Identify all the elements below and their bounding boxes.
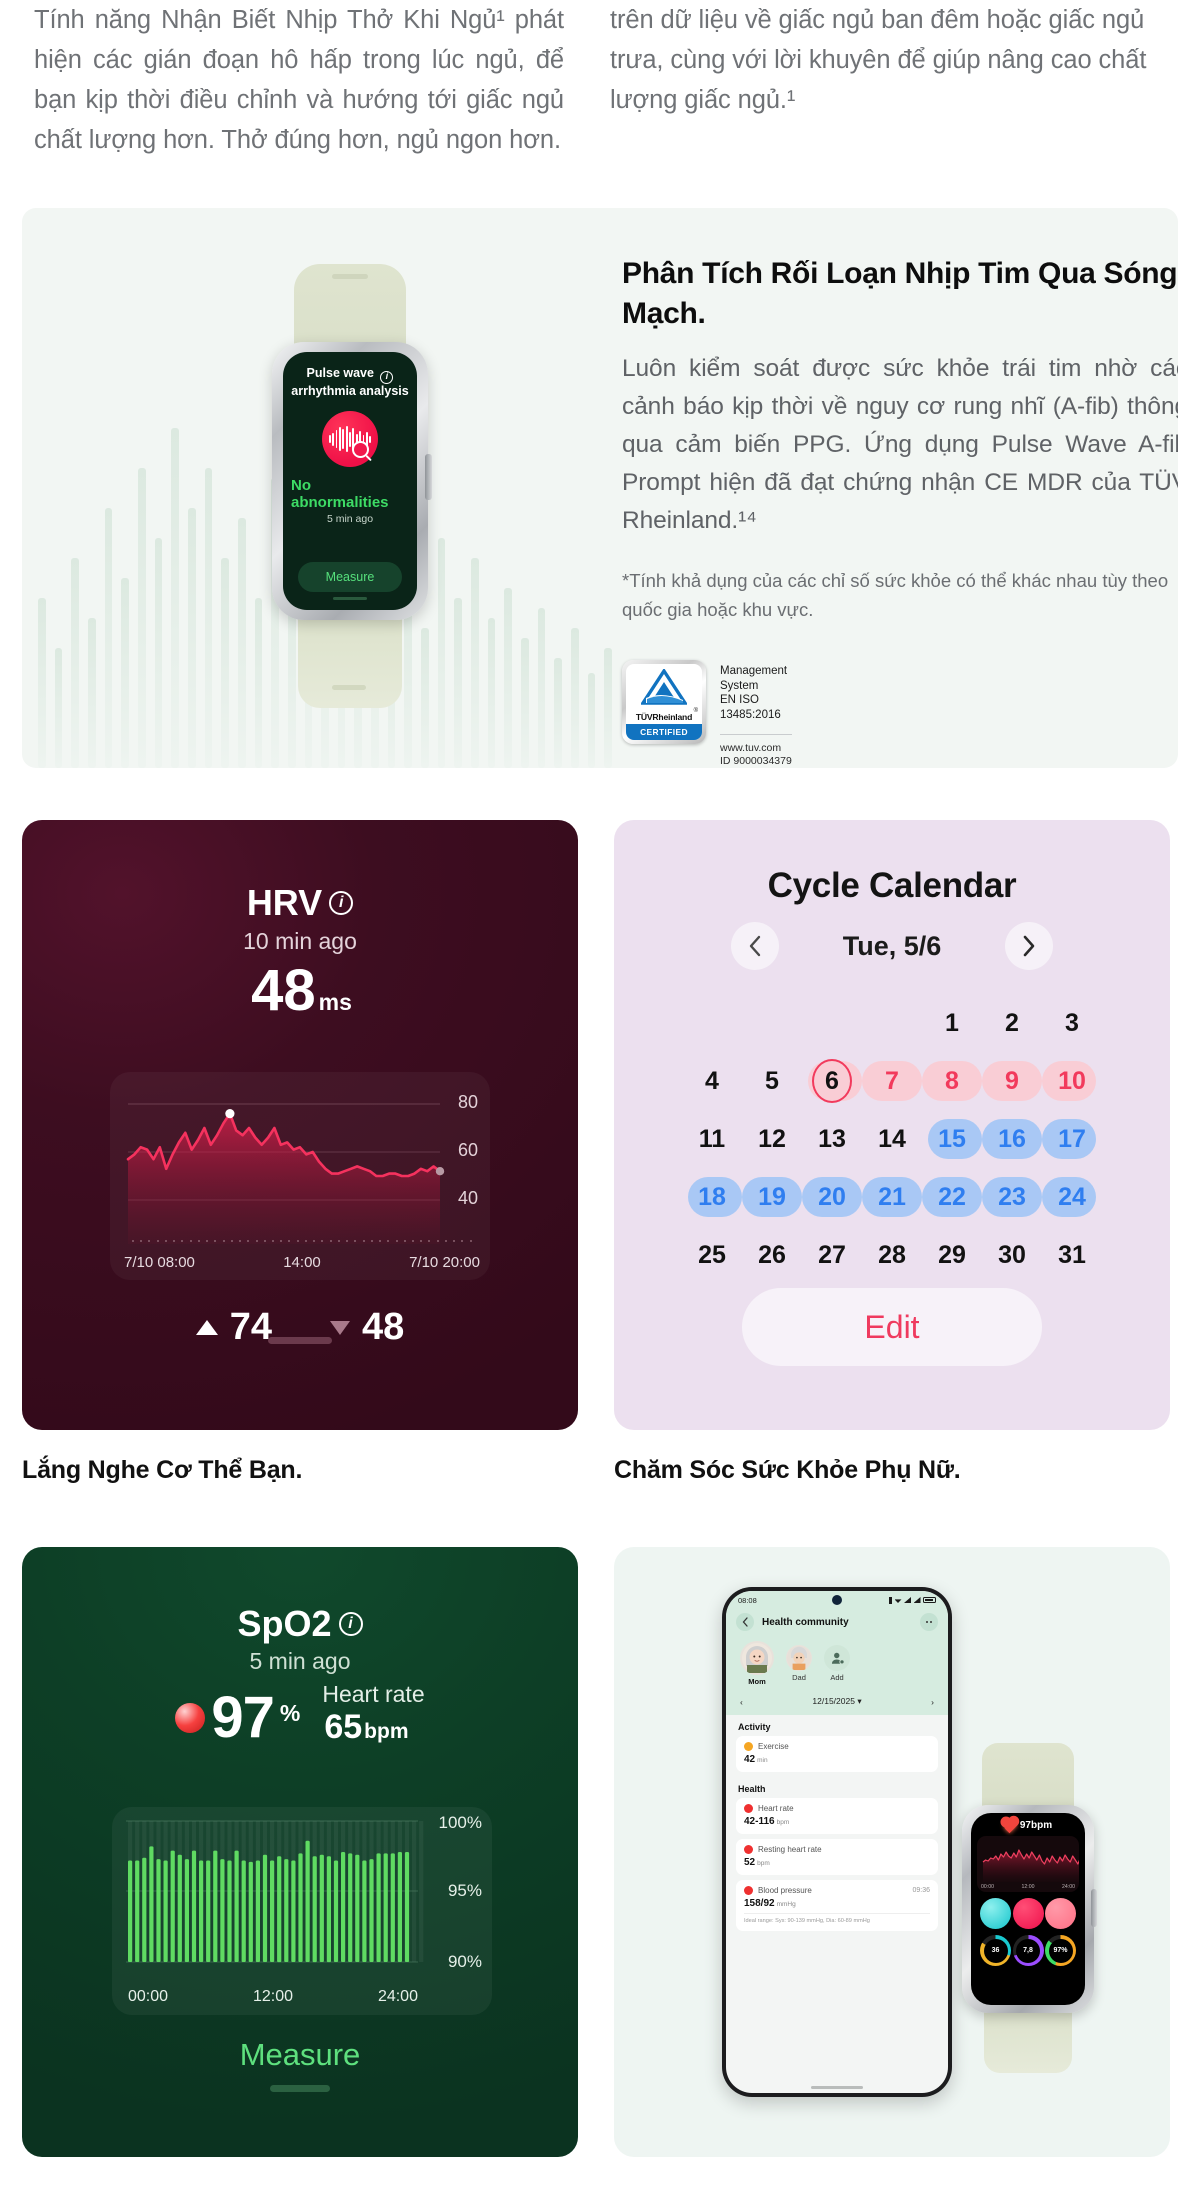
watch2-metric-rings[interactable]: 367,897% — [977, 1935, 1079, 1966]
cards-grid: HRV i 10 min ago 48ms — [0, 820, 1200, 2157]
tuv-url: www.tuv.com — [720, 742, 792, 755]
calendar-day[interactable]: 3 — [1042, 996, 1102, 1050]
calendar-day-number: 25 — [698, 1241, 726, 1270]
axis-dot — [214, 1240, 216, 1242]
axis-dot — [165, 1240, 167, 1242]
axis-dot — [346, 1240, 348, 1242]
axis-dot — [272, 1240, 274, 1242]
hrv-timestamp: 10 min ago — [22, 928, 578, 955]
item-label: Heart rate — [744, 1804, 794, 1813]
hrv-unit: ms — [319, 989, 352, 1015]
item-unit: min — [757, 1757, 767, 1764]
calendar-day-number: 14 — [878, 1125, 906, 1154]
watch-measure-button[interactable]: Measure — [298, 562, 402, 592]
calendar-day-number: 16 — [998, 1125, 1026, 1154]
hrv-home-indicator — [268, 1337, 332, 1344]
afib-body: Luôn kiểm soát được sức khỏe trái tim nh… — [622, 350, 1178, 540]
add-person-icon[interactable] — [824, 1645, 850, 1671]
axis-dot — [157, 1240, 159, 1242]
decorative-bar — [471, 558, 479, 768]
info-icon[interactable]: i — [380, 371, 393, 384]
person-label: Add — [824, 1673, 850, 1682]
phone-people-row[interactable]: MomDadAdd — [726, 1637, 948, 1692]
chevron-left-icon — [747, 935, 763, 957]
item-label: Resting heart rate — [744, 1845, 822, 1854]
calendar-day[interactable]: 27 — [802, 1228, 862, 1282]
watch-screen-title: Pulse wave i arrhythmia analysis — [291, 366, 408, 399]
axis-dot — [445, 1240, 447, 1242]
axis-dot — [148, 1240, 150, 1242]
watch-side-button[interactable] — [425, 454, 432, 500]
calendar-day[interactable]: 9 — [982, 1054, 1042, 1108]
calendar-day-number: 8 — [945, 1067, 959, 1096]
calendar-day[interactable]: 18 — [682, 1170, 742, 1224]
axis-dot — [321, 1240, 323, 1242]
metric-value: 7,8 — [1016, 1939, 1040, 1963]
phone-section-activity: Activity — [726, 1715, 948, 1736]
item-header: Resting heart rate — [744, 1845, 930, 1854]
calendar-day[interactable]: 21 — [862, 1170, 922, 1224]
decorative-bar — [571, 628, 579, 768]
spo2-card: SpO2 i 5 min ago 97 % Heart rate — [22, 1547, 578, 2157]
cell-cycle: Cycle Calendar Tue, 5/6 1234567891011121… — [614, 820, 1170, 1485]
cycle-current-date: Tue, 5/6 — [843, 931, 942, 962]
arrow-down-icon — [330, 1321, 350, 1335]
phone-status-bar: 08:08 — [726, 1591, 948, 1609]
item-time: 09:36 — [912, 1887, 930, 1894]
calendar-day-number: 26 — [758, 1241, 786, 1270]
tuv-badge-inner: ® TÜVRheinland CERTIFIED — [626, 664, 702, 740]
calendar-day-number: 12 — [758, 1125, 786, 1154]
heart-rate-value: 65 — [324, 1708, 362, 1746]
decorative-bar — [88, 618, 96, 768]
tuv-line2: System — [720, 679, 792, 694]
phone-section-health: Health — [726, 1777, 948, 1798]
pulse-shortcut-icon[interactable] — [1013, 1898, 1044, 1929]
axis-dot — [190, 1240, 192, 1242]
calendar-day[interactable]: 2 — [982, 996, 1042, 1050]
watch-title-line2: arrhythmia analysis — [291, 384, 408, 398]
calendar-day-empty — [682, 996, 742, 1050]
axis-dot — [223, 1240, 225, 1242]
person-mom[interactable]: Mom — [740, 1641, 774, 1686]
axis-dot — [461, 1240, 463, 1242]
calendar-day[interactable]: 28 — [862, 1228, 922, 1282]
tuv-id: ID 9000034379 — [720, 755, 792, 768]
axis-dot — [371, 1240, 373, 1242]
axis-dot — [173, 1240, 175, 1242]
spo2-values: 97 % Heart rate 65bpm — [22, 1681, 578, 1751]
cycle-calendar-grid[interactable]: 1234567891011121314151617181920212223242… — [682, 996, 1102, 1282]
tuv-badge: ® TÜVRheinland CERTIFIED — [622, 660, 706, 744]
axis-dot — [305, 1240, 307, 1242]
calendar-day[interactable]: 11 — [682, 1112, 742, 1166]
item-value: 42min — [744, 1754, 930, 1765]
spo2-ytick-90: 90% — [448, 1952, 482, 1972]
phone-health-items: Heart rate42-116bpmResting heart rate52b… — [726, 1798, 948, 1936]
axis-dot — [206, 1240, 208, 1242]
waveform-bar — [369, 436, 371, 443]
axis-dot — [437, 1240, 439, 1242]
dot-2 — [930, 1621, 932, 1623]
waveform-bar — [329, 435, 331, 443]
wifi-icon — [895, 1597, 902, 1603]
hrv-xtick-0: 7/10 08:00 — [124, 1254, 195, 1271]
calendar-day[interactable]: 17 — [1042, 1112, 1102, 1166]
hrv-value-row: 48ms — [22, 957, 578, 1024]
watch2-shortcut-row[interactable] — [977, 1898, 1079, 1929]
afib-panel: Pulse wave i arrhythmia analysis No abno… — [22, 208, 1178, 768]
heart-rate-unit: bpm — [364, 1720, 408, 1743]
calendar-day[interactable]: 22 — [922, 1170, 982, 1224]
cycle-card: Cycle Calendar Tue, 5/6 1234567891011121… — [614, 820, 1170, 1430]
axis-dot — [412, 1240, 414, 1242]
signal-icon-1 — [904, 1597, 911, 1603]
metric-icon — [744, 1742, 753, 1751]
metric-value: 97% — [1049, 1939, 1073, 1963]
cycle-edit-button[interactable]: Edit — [742, 1288, 1042, 1366]
axis-dot — [288, 1240, 290, 1242]
calendar-day[interactable]: 23 — [982, 1170, 1042, 1224]
phone-device: 08:08 — [722, 1587, 952, 2097]
axis-dot — [181, 1240, 183, 1242]
avatar-dad[interactable] — [786, 1645, 812, 1671]
hrv-max-stat: 74 — [196, 1306, 272, 1349]
today-ring — [812, 1059, 852, 1103]
calendar-day-number: 22 — [938, 1183, 966, 1212]
more-options-button[interactable] — [920, 1613, 938, 1631]
hrv-caption: Lắng Nghe Cơ Thể Bạn. — [22, 1456, 578, 1485]
calendar-day[interactable]: 26 — [742, 1228, 802, 1282]
afib-disclaimer: *Tính khả dụng của các chỉ số sức khỏe c… — [622, 566, 1178, 624]
hrv-min-stat: 48 — [330, 1306, 404, 1349]
calendar-day-number: 24 — [1058, 1183, 1086, 1212]
item-header: Heart rate — [744, 1804, 930, 1813]
spo2-xtick-0: 00:00 — [128, 1988, 168, 2006]
tuv-triangle-logo: ® — [626, 664, 702, 712]
phone-clock: 08:08 — [738, 1596, 757, 1605]
tuv-line1: Management — [720, 664, 792, 679]
watch-body: Pulse wave i arrhythmia analysis No abno… — [272, 342, 428, 620]
calendar-day[interactable]: 19 — [742, 1170, 802, 1224]
calendar-day-number: 11 — [699, 1125, 725, 1154]
afib-text-block: Phân Tích Rối Loạn Nhịp Tim Qua Sóng Mạc… — [622, 254, 1178, 624]
axis-dot — [313, 1240, 315, 1242]
spo2-value: 97 — [211, 1684, 274, 1751]
back-button[interactable] — [736, 1613, 754, 1631]
date-prev-icon[interactable]: ‹ — [740, 1697, 743, 1707]
calendar-day[interactable]: 6 — [802, 1054, 862, 1108]
calendar-day-number: 21 — [878, 1183, 906, 1212]
spo2-xtick-2: 24:00 — [378, 1988, 418, 2006]
watch-screen: Pulse wave i arrhythmia analysis No abno… — [283, 352, 417, 610]
decorative-bar — [238, 518, 246, 768]
metric-ring[interactable]: 7,8 — [1013, 1935, 1044, 1966]
hrv-xtick-2: 7/10 20:00 — [409, 1254, 480, 1271]
phone-status-icons — [889, 1597, 936, 1604]
calendar-day[interactable]: 20 — [802, 1170, 862, 1224]
axis-dot — [453, 1240, 455, 1242]
calendar-day[interactable]: 29 — [922, 1228, 982, 1282]
decorative-bar — [71, 558, 79, 768]
axis-dot — [470, 1240, 472, 1242]
calendar-day[interactable]: 1 — [922, 996, 982, 1050]
item-unit: bpm — [777, 1819, 790, 1826]
metric-ring[interactable]: 97% — [1045, 1935, 1076, 1966]
item-label: Blood pressure — [744, 1886, 812, 1895]
axis-dot — [231, 1240, 233, 1242]
spo2-value-group: 97 % — [175, 1684, 300, 1751]
hrv-card: HRV i 10 min ago 48ms — [22, 820, 578, 1430]
hrv-axis-dots — [132, 1240, 472, 1242]
chevron-left-icon — [742, 1617, 748, 1627]
hrv-chart: 80 60 40 7/10 08:00 14:00 7/10 20:00 — [110, 1072, 490, 1280]
calendar-day-number: 3 — [1065, 1009, 1079, 1038]
spo2-measure-button[interactable]: Measure — [22, 2037, 578, 2073]
spo2-ytick-95: 95% — [448, 1881, 482, 1901]
calendar-day-number: 30 — [998, 1241, 1026, 1270]
cycle-prev-button[interactable] — [731, 922, 779, 970]
person-label: Dad — [786, 1673, 812, 1682]
spo2-title-row: SpO2 i — [237, 1603, 362, 1645]
intro-paragraph-right: trên dữ liệu về giấc ngủ ban đêm hoặc gi… — [610, 0, 1164, 120]
watch-home-indicator — [333, 597, 367, 600]
watch-device-community: 97bpm — [948, 1743, 1108, 2073]
heart-icon — [1002, 1818, 1018, 1834]
spo2-xtick-1: 12:00 — [253, 1988, 293, 2006]
phone-home-indicator — [811, 2086, 863, 2089]
waveform-bar — [342, 429, 344, 449]
axis-dot — [363, 1240, 365, 1242]
tuv-meta: Management System EN ISO 13485:2016 www.… — [720, 660, 792, 768]
arrow-up-icon — [196, 1320, 218, 1335]
heart-shortcut-icon[interactable] — [1045, 1898, 1076, 1929]
phone-date: 12/15/2025 ▾ — [812, 1696, 861, 1707]
hrv-chart-svg — [110, 1072, 490, 1280]
axis-dot — [338, 1240, 340, 1242]
magnifier-icon — [352, 441, 369, 458]
health-list-item[interactable]: Blood pressure09:36158/92mmHgIdeal range… — [736, 1880, 938, 1931]
axis-dot — [428, 1240, 430, 1242]
blood-drop-icon — [175, 1703, 205, 1733]
signal-icon-2 — [914, 1597, 921, 1603]
tuv-logo-svg — [641, 669, 687, 707]
calendar-day-number: 9 — [1005, 1067, 1019, 1096]
hrv-max-value: 74 — [230, 1306, 272, 1349]
axis-dot — [280, 1240, 282, 1242]
decorative-bar — [538, 608, 546, 768]
intro-column-right: trên dữ liệu về giấc ngủ ban đêm hoặc gi… — [600, 0, 1200, 190]
metric-value: 36 — [984, 1939, 1008, 1963]
ideal-range: Ideal range: Sys: 90-139 mmHg, Dia: 60-8… — [744, 1913, 930, 1924]
metric-ring[interactable]: 36 — [980, 1935, 1011, 1966]
waveform-bar — [332, 433, 334, 446]
waveform-bar — [346, 426, 348, 452]
calendar-day[interactable]: 24 — [1042, 1170, 1102, 1224]
tuv-certified-label: CERTIFIED — [626, 724, 702, 741]
calendar-day-number: 7 — [885, 1067, 899, 1096]
axis-dot — [387, 1240, 389, 1242]
axis-dot — [297, 1240, 299, 1242]
info-icon[interactable]: i — [339, 1612, 363, 1636]
axis-dot — [256, 1240, 258, 1242]
calendar-day[interactable]: 13 — [802, 1112, 862, 1166]
calendar-day[interactable]: 4 — [682, 1054, 742, 1108]
tuv-brand: TÜVRheinland — [626, 712, 702, 724]
axis-dot — [420, 1240, 422, 1242]
calendar-day[interactable]: 14 — [862, 1112, 922, 1166]
community-card: 08:08 — [614, 1547, 1170, 2157]
decorative-bar — [105, 508, 113, 768]
person-add[interactable]: Add — [824, 1641, 850, 1686]
watch-device-afib: Pulse wave i arrhythmia analysis No abno… — [250, 264, 450, 708]
item-unit: mmHg — [777, 1901, 796, 1908]
watch2-bpm: 97bpm — [1020, 1820, 1052, 1831]
sleep-shortcut-icon[interactable] — [980, 1898, 1011, 1929]
dot-1 — [926, 1621, 928, 1623]
calendar-day[interactable]: 15 — [922, 1112, 982, 1166]
spo2-header: SpO2 i 5 min ago 97 % Heart rate — [22, 1547, 578, 1751]
cards-row-1: HRV i 10 min ago 48ms — [0, 820, 1200, 1485]
calendar-day[interactable]: 7 — [862, 1054, 922, 1108]
bluetooth-icon — [889, 1597, 892, 1604]
decorative-bar — [488, 618, 496, 768]
cell-spo2: SpO2 i 5 min ago 97 % Heart rate — [22, 1547, 578, 2157]
tuv-line3: EN ISO — [720, 693, 792, 708]
axis-dot — [379, 1240, 381, 1242]
decorative-bar — [554, 658, 562, 768]
hrv-header: HRV i 10 min ago 48ms — [22, 820, 578, 1024]
axis-dot — [330, 1240, 332, 1242]
waveform-bar — [336, 430, 338, 448]
info-icon[interactable]: i — [329, 891, 353, 915]
spo2-timestamp: 5 min ago — [22, 1648, 578, 1675]
spo2-chart: 100% 95% 90% 00:00 12:00 24:00 — [112, 1807, 492, 2015]
waveform-bar — [339, 427, 341, 451]
tuv-line4: 13485:2016 — [720, 708, 792, 723]
item-unit: bpm — [757, 1860, 770, 1867]
page-root: Tính năng Nhận Biết Nhịp Thở Khi Ngủ¹ ph… — [0, 0, 1200, 2200]
calendar-day[interactable]: 5 — [742, 1054, 802, 1108]
decorative-bar — [454, 598, 462, 768]
calendar-day-number: 28 — [878, 1241, 906, 1270]
watch2-body: 97bpm — [962, 1805, 1094, 2013]
calendar-day-empty — [802, 996, 862, 1050]
hrv-title: HRV — [247, 882, 322, 924]
decorative-bar — [221, 558, 229, 768]
calendar-day-number: 2 — [1005, 1009, 1019, 1038]
calendar-day-number: 20 — [818, 1183, 846, 1212]
registered-mark: ® — [694, 708, 698, 714]
watch2-side-button[interactable] — [1091, 1889, 1097, 1927]
health-list-item[interactable]: Resting heart rate52bpm — [736, 1839, 938, 1875]
watch-status-text: No abnormalities — [291, 477, 409, 511]
calendar-day-number: 27 — [818, 1241, 846, 1270]
health-list-item[interactable]: Heart rate42-116bpm — [736, 1798, 938, 1834]
phone-date-bar[interactable]: ‹ 12/15/2025 ▾ › — [726, 1692, 948, 1715]
decorative-bar — [521, 638, 529, 768]
calendar-day-number: 19 — [758, 1183, 786, 1212]
calendar-day[interactable]: 31 — [1042, 1228, 1102, 1282]
item-header: Exercise — [744, 1742, 930, 1751]
tuv-brand-tuv: TÜV — [636, 712, 653, 722]
spo2-x-labels: 00:00 12:00 24:00 — [128, 1988, 418, 2006]
calendar-day[interactable]: 10 — [1042, 1054, 1102, 1108]
phone-screen: 08:08 — [726, 1591, 948, 2093]
calendar-day-number: 13 — [818, 1125, 846, 1154]
decorative-bar — [604, 648, 612, 768]
heart-rate-value-row: 65bpm — [322, 1708, 424, 1747]
item-label: Exercise — [744, 1742, 789, 1751]
calendar-day-number: 4 — [705, 1067, 719, 1096]
decorative-bar — [38, 598, 46, 768]
calendar-day-number: 5 — [765, 1067, 779, 1096]
heart-rate-label: Heart rate — [322, 1681, 424, 1708]
cycle-nav: Tue, 5/6 — [614, 922, 1170, 970]
calendar-day-number: 23 — [998, 1183, 1026, 1212]
hrv-title-row: HRV i — [247, 882, 353, 924]
calendar-day[interactable]: 12 — [742, 1112, 802, 1166]
cycle-title: Cycle Calendar — [614, 820, 1170, 906]
chevron-right-icon — [1021, 935, 1037, 957]
calendar-day[interactable]: 16 — [982, 1112, 1042, 1166]
heart-rate-group: Heart rate 65bpm — [322, 1681, 424, 1747]
calendar-day-number: 31 — [1058, 1241, 1086, 1270]
calendar-day[interactable]: 8 — [922, 1054, 982, 1108]
axis-dot — [247, 1240, 249, 1242]
calendar-day[interactable]: 25 — [682, 1228, 742, 1282]
calendar-day-empty — [742, 996, 802, 1050]
calendar-day-number: 1 — [945, 1009, 959, 1038]
axis-dot — [132, 1240, 134, 1242]
decorative-bar — [171, 428, 179, 768]
watch2-xtick-2: 24:00 — [1062, 1884, 1075, 1890]
cycle-next-button[interactable] — [1005, 922, 1053, 970]
intro-paragraph-left: Tính năng Nhận Biết Nhịp Thở Khi Ngủ¹ ph… — [34, 0, 564, 160]
waveform-bar — [349, 432, 351, 447]
spo2-unit: % — [280, 1700, 300, 1727]
cards-row-2: SpO2 i 5 min ago 97 % Heart rate — [0, 1547, 1200, 2157]
tuv-brand-rheinland: Rheinland — [652, 712, 692, 722]
axis-dot — [239, 1240, 241, 1242]
pulse-wave-icon — [322, 411, 378, 467]
health-list-item[interactable]: Exercise42min — [736, 1736, 938, 1772]
hrv-xtick-1: 14:00 — [283, 1254, 321, 1271]
axis-dot — [404, 1240, 406, 1242]
decorative-bar — [504, 588, 512, 768]
spo2-home-indicator — [270, 2085, 330, 2092]
hrv-ytick-40: 40 — [458, 1188, 478, 1209]
metric-icon — [744, 1845, 753, 1854]
decorative-bar — [55, 648, 63, 768]
item-header: Blood pressure09:36 — [744, 1886, 930, 1895]
cell-community: 08:08 — [614, 1547, 1170, 2157]
item-value: 52bpm — [744, 1857, 930, 1868]
watch2-xtick-1: 12:00 — [1022, 1884, 1035, 1890]
date-next-icon[interactable]: › — [931, 1697, 934, 1707]
afib-heading: Phân Tích Rối Loạn Nhịp Tim Qua Sóng Mạc… — [622, 254, 1178, 334]
person-dad[interactable]: Dad — [786, 1641, 812, 1686]
watch2-bpm-row: 97bpm — [977, 1820, 1079, 1831]
item-value: 158/92mmHg — [744, 1898, 930, 1909]
calendar-day-number: 29 — [938, 1241, 966, 1270]
metric-icon — [744, 1804, 753, 1813]
calendar-day[interactable]: 30 — [982, 1228, 1042, 1282]
tuv-meta-secondary: www.tuv.com ID 9000034379 — [720, 734, 792, 768]
decorative-bar — [155, 538, 163, 768]
avatar-mom[interactable] — [740, 1641, 774, 1675]
watch2-hr-chart: 00:00 12:00 24:00 — [977, 1836, 1079, 1892]
